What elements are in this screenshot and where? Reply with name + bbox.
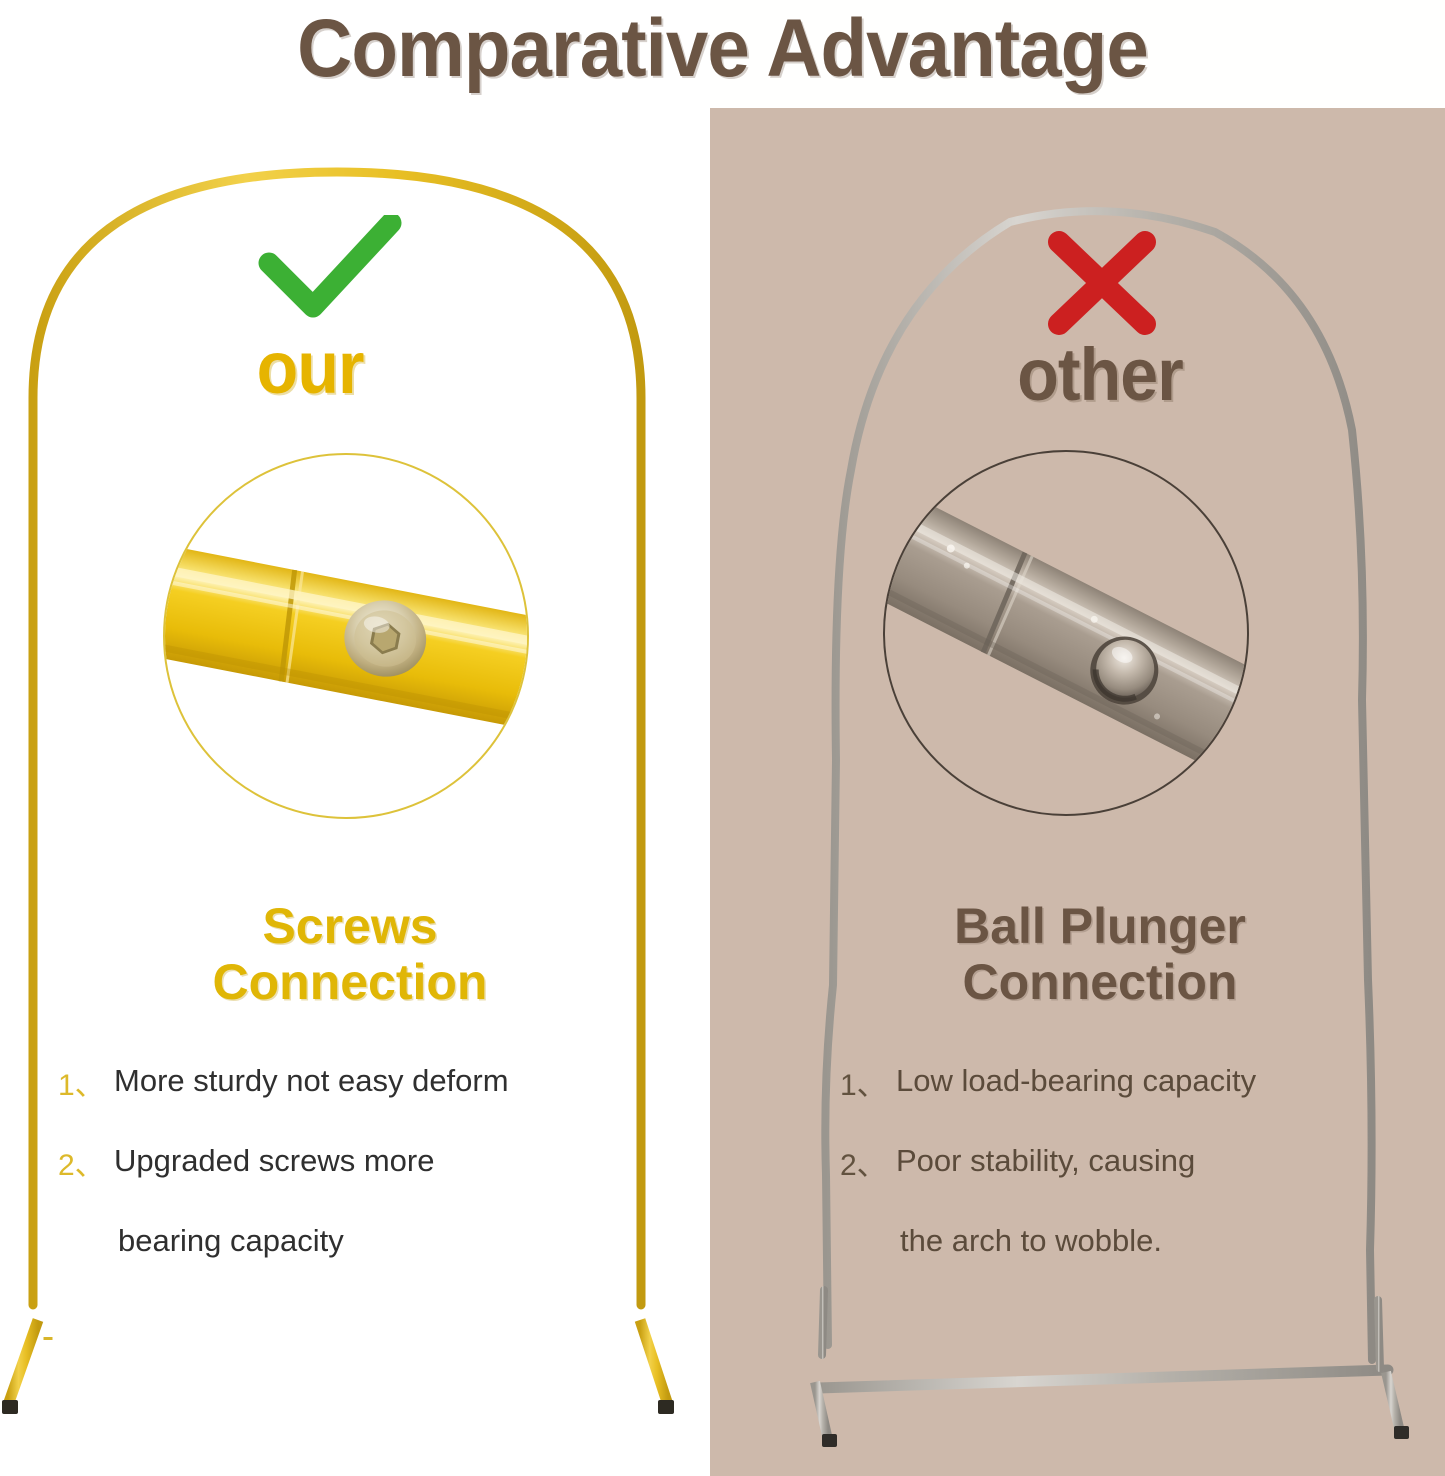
list-item: 1、 Low load-bearing capacity bbox=[840, 1060, 1380, 1104]
bullet-text: More sturdy not easy deform bbox=[114, 1060, 658, 1103]
page-title: Comparative Advantage bbox=[51, 2, 1395, 96]
bullet-text: Low load-bearing capacity bbox=[896, 1060, 1380, 1103]
our-label: our bbox=[257, 325, 364, 410]
infographic-canvas: Comparative Advantage bbox=[0, 0, 1445, 1476]
bullet-text: Poor stability, causing bbox=[896, 1140, 1380, 1183]
cross-icon bbox=[1027, 228, 1177, 338]
check-icon bbox=[255, 215, 405, 325]
gray-tube-ball-plunger-photo bbox=[883, 450, 1249, 816]
list-item: 2、 Poor stability, causing bbox=[840, 1140, 1380, 1184]
right-detail-caption: Ball Plunger Connection bbox=[830, 898, 1370, 1010]
bullet-number: 2、 bbox=[58, 1140, 114, 1184]
left-detail-caption: Screws Connection bbox=[60, 898, 640, 1010]
bullet-number: 1、 bbox=[58, 1060, 114, 1104]
bullet-continuation: the arch to wobble. bbox=[900, 1220, 1380, 1263]
list-item: 1、 More sturdy not easy deform bbox=[58, 1060, 658, 1104]
yellow-tube-screw-photo bbox=[163, 453, 529, 819]
bullet-text: Upgraded screws more bbox=[114, 1140, 658, 1183]
bullet-continuation: bearing capacity bbox=[118, 1220, 658, 1263]
right-bullet-list: 1、 Low load-bearing capacity 2、 Poor sta… bbox=[840, 1060, 1380, 1263]
left-bullet-list: 1、 More sturdy not easy deform 2、 Upgrad… bbox=[58, 1060, 658, 1263]
bullet-number: 2、 bbox=[840, 1140, 896, 1184]
bullet-number: 1、 bbox=[840, 1060, 896, 1104]
other-label: other bbox=[1017, 332, 1183, 417]
list-item: 2、 Upgraded screws more bbox=[58, 1140, 658, 1184]
